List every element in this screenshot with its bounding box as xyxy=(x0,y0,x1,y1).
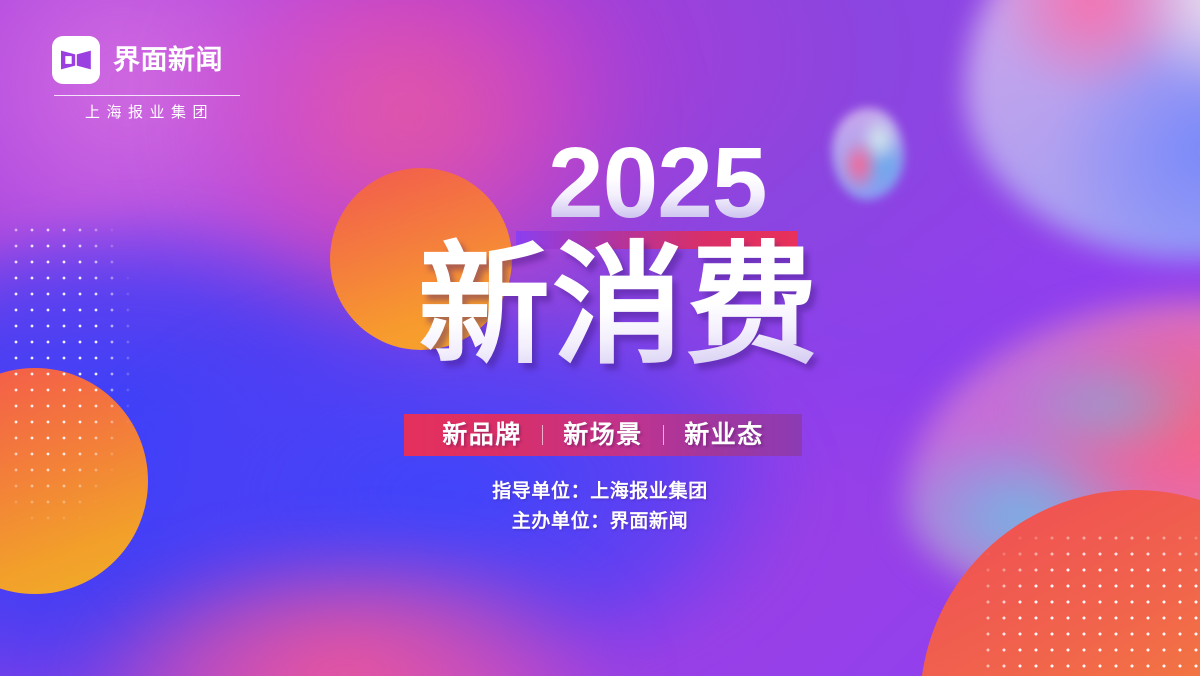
brand-lockup: 界面新闻 上海报业集团 xyxy=(52,36,242,120)
brand-name: 界面新闻 xyxy=(113,47,223,74)
background-blob-cyan-band xyxy=(960,330,1200,480)
brand-logo-row: 界面新闻 xyxy=(52,36,242,84)
background-blob-pink-bottom xyxy=(30,560,730,676)
poster-canvas: 界面新闻 上海报业集团 2025 新消费 新品牌 新场景 新业态 指导单位：上海… xyxy=(0,0,1200,676)
subtitle-separator-1 xyxy=(542,425,544,445)
credits-block: 指导单位：上海报业集团 主办单位：界面新闻 xyxy=(0,478,1200,537)
parent-org-name: 上海报业集团 xyxy=(52,105,242,120)
subtitle-separator-2 xyxy=(663,425,665,445)
page-title-text: 新消费 xyxy=(418,232,820,379)
event-year: 2025 xyxy=(548,133,766,233)
background-blob-iridescent-small xyxy=(832,108,904,200)
background-blob-iridescent-large xyxy=(965,0,1200,260)
jiemian-film-frame-icon xyxy=(52,36,100,84)
subtitle-tag-2: 新场景 xyxy=(563,423,643,448)
subtitle-bar: 新品牌 新场景 新业态 xyxy=(404,414,802,456)
credit-host-unit: 主办单位：界面新闻 xyxy=(0,508,1200,536)
brand-divider xyxy=(54,95,240,96)
subtitle-tag-1: 新品牌 xyxy=(442,423,522,448)
credit-guide-unit: 指导单位：上海报业集团 xyxy=(0,478,1200,506)
page-title: 新消费 xyxy=(418,236,820,376)
subtitle-tag-3: 新业态 xyxy=(684,423,764,448)
